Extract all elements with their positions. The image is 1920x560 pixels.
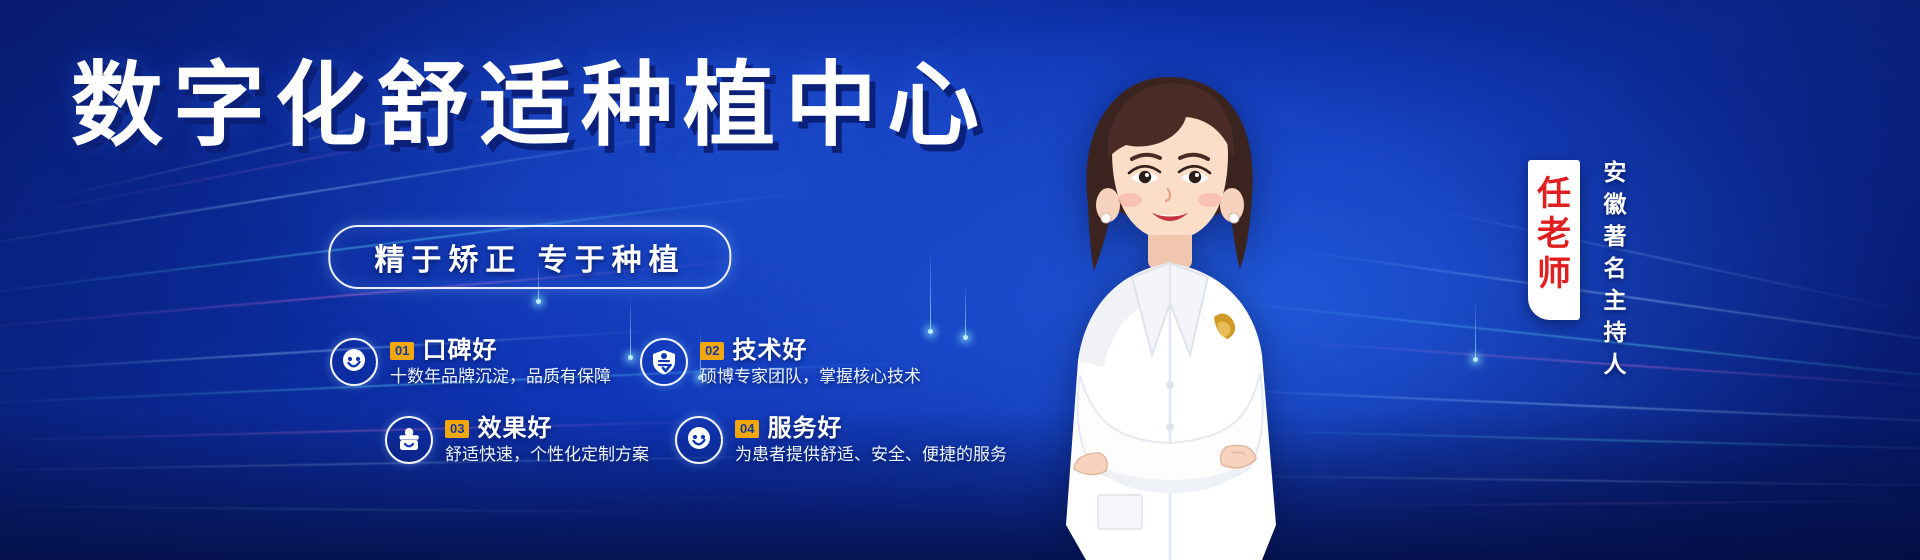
feature-number-badge: 01 [390, 342, 414, 360]
feature-text: 02 技术好 硕博专家团队，掌握核心技术 [700, 336, 921, 388]
feature-row-bottom: 03 效果好 舒适快速，个性化定制方案 [330, 414, 1030, 466]
banner-content: 数字化舒适种植中心 精于矫正 专于种植 01 [0, 0, 1060, 560]
feature-heading: 04 服务好 [735, 414, 1007, 444]
feature-description: 十数年品牌沉淀，品质有保障 [390, 367, 611, 386]
feature-name: 技术好 [732, 336, 807, 366]
doctor-portrait [1000, 55, 1330, 560]
shield-check-icon [640, 338, 688, 386]
dental-clinic-banner: 数字化舒适种植中心 精于矫正 专于种植 01 [0, 0, 1920, 560]
name-char-1: 任 [1528, 174, 1580, 214]
feature-number-badge: 03 [445, 420, 469, 438]
feature-number-badge: 02 [700, 342, 724, 360]
feature-list: 01 口碑好 十数年品牌沉淀，品质有保障 [330, 336, 1030, 466]
smiley-face-icon [330, 338, 378, 386]
feature-name: 效果好 [477, 414, 552, 444]
smiley-face-icon [675, 416, 723, 464]
presenter-name-tag-group: 任 老 师 安徽著名主持人 [1528, 160, 1630, 420]
feature-text: 01 口碑好 十数年品牌沉淀，品质有保障 [390, 336, 611, 388]
feature-item-01[interactable]: 01 口碑好 十数年品牌沉淀，品质有保障 [330, 336, 640, 388]
feature-row-top: 01 口碑好 十数年品牌沉淀，品质有保障 [330, 336, 1030, 388]
feature-heading: 01 口碑好 [390, 336, 611, 366]
feature-text: 03 效果好 舒适快速，个性化定制方案 [445, 414, 649, 466]
feature-item-03[interactable]: 03 效果好 舒适快速，个性化定制方案 [385, 414, 675, 466]
page-title: 数字化舒适种植中心 [0, 58, 1060, 155]
presenter-caption: 安徽著名主持人 [1596, 160, 1630, 420]
feature-name: 口碑好 [422, 336, 497, 366]
name-char-2: 老 [1528, 214, 1580, 254]
feature-number-badge: 04 [735, 420, 759, 438]
feature-description: 为患者提供舒适、安全、便捷的服务 [735, 445, 1007, 464]
subtitle-pill: 精于矫正 专于种植 [328, 225, 731, 289]
feature-heading: 03 效果好 [445, 414, 649, 444]
feature-item-02[interactable]: 02 技术好 硕博专家团队，掌握核心技术 [640, 336, 970, 388]
feature-heading: 02 技术好 [700, 336, 921, 366]
feature-name: 服务好 [767, 414, 842, 444]
name-tag-badge: 任 老 师 [1528, 160, 1580, 320]
name-char-3: 师 [1528, 254, 1580, 294]
feature-item-04[interactable]: 04 服务好 为患者提供舒适、安全、便捷的服务 [675, 414, 1005, 466]
feature-text: 04 服务好 为患者提供舒适、安全、便捷的服务 [735, 414, 1007, 466]
thumbs-up-icon [385, 416, 433, 464]
feature-description: 舒适快速，个性化定制方案 [445, 445, 649, 464]
feature-description: 硕博专家团队，掌握核心技术 [700, 367, 921, 386]
